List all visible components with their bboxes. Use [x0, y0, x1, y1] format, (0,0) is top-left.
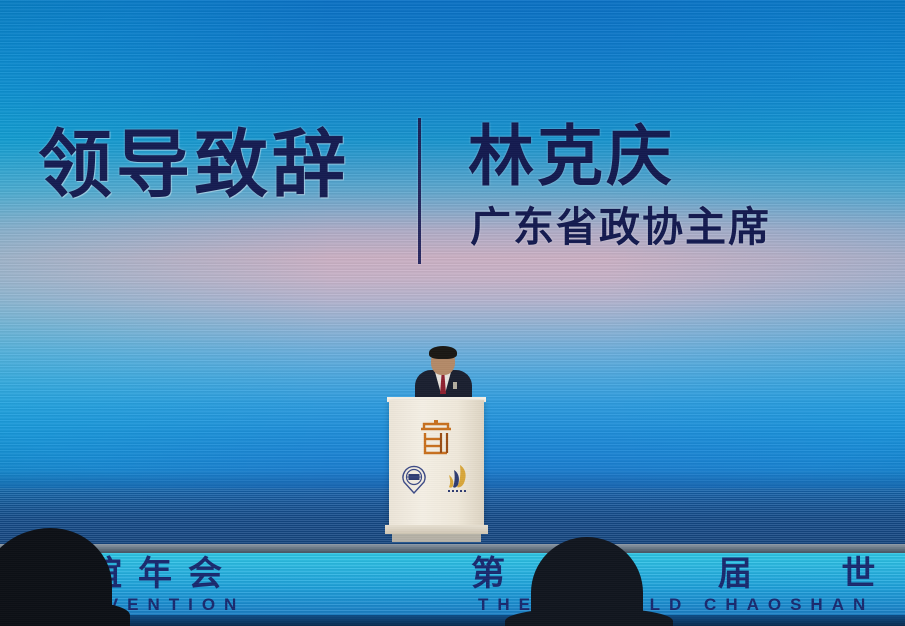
- audience-shoulder-left: [0, 600, 130, 626]
- chaoshan-bird-icon: [443, 463, 473, 495]
- banner-lower-shadow: [0, 615, 905, 626]
- headline-title: 领导致辞: [38, 126, 350, 204]
- organization-emblem-icon: [401, 464, 427, 494]
- podium-base: [385, 525, 488, 534]
- speaker-lapel-badge: [453, 382, 457, 389]
- headline-divider: [418, 118, 421, 264]
- chaoshan-seal-icon: [417, 418, 455, 458]
- podium-sublogos: [401, 462, 473, 496]
- podium-foot: [392, 534, 481, 542]
- stage-photo: 领导致辞 林克庆 广东省政协主席: [0, 0, 905, 626]
- speaker-role: 广东省政协主席: [470, 204, 771, 250]
- speaker-name: 林克庆: [468, 120, 675, 192]
- audience-shoulder-right: [505, 608, 673, 626]
- podium: [389, 400, 484, 532]
- speaker-hair: [429, 346, 457, 359]
